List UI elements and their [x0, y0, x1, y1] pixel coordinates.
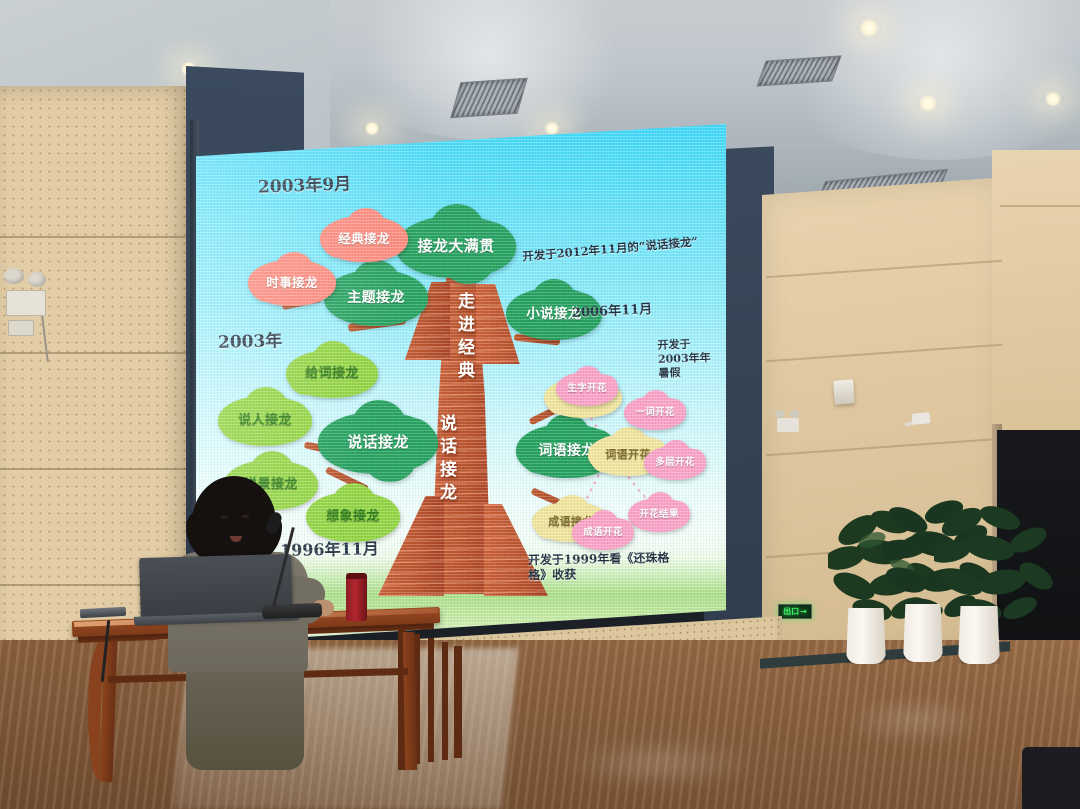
plant-pot — [903, 604, 943, 662]
desk-leg — [403, 632, 417, 770]
red-thermos[interactable] — [346, 577, 367, 621]
wall-speaker — [833, 379, 855, 404]
node-zhuti-jielong[interactable]: 主题接龙 — [324, 270, 428, 326]
floor-reflection — [840, 700, 990, 740]
presenter-eye — [221, 516, 228, 519]
node-shishi-jielong[interactable]: 时事接龙 — [248, 260, 336, 306]
node-yici-kaihua[interactable]: 一词开花 — [624, 396, 686, 430]
panel-seam — [0, 468, 190, 470]
annotation-2003-summer: 开发于 2003年年 暑假 — [657, 337, 711, 380]
trunk-text-line-2: 说话接龙 — [434, 414, 459, 506]
node-label: 经典接龙 — [338, 232, 390, 245]
panel-seam — [0, 352, 190, 354]
node-duoceng-kaihua[interactable]: 多层开花 — [644, 446, 706, 480]
node-label: 生字开花 — [567, 384, 607, 394]
node-geici-jielong[interactable]: 给词接龙 — [286, 350, 378, 398]
emergency-light — [777, 418, 799, 432]
downlight — [916, 96, 940, 111]
presenter-eye — [242, 515, 249, 518]
security-camera — [912, 412, 931, 425]
presentation-room-photo: 出口 → — [0, 0, 1080, 809]
node-shengzi-kaihua[interactable]: 生字开花 — [556, 372, 618, 406]
downlight — [362, 122, 382, 135]
annotation-2003-9: 2003年9月 — [258, 174, 352, 198]
node-label: 主题接龙 — [347, 291, 405, 306]
node-label: 说人接龙 — [238, 414, 292, 428]
emergency-lamp-icon — [790, 410, 799, 418]
ceiling-vent-icon — [450, 78, 528, 119]
node-label: 说话接龙 — [347, 435, 409, 451]
node-jingdian-jielong[interactable]: 经典接龙 — [320, 216, 408, 262]
node-label: 给词接龙 — [305, 367, 359, 381]
node-label: 接龙大满贯 — [417, 239, 494, 255]
panel-seam — [0, 236, 190, 238]
exit-sign-label: 出口 — [783, 608, 799, 616]
emergency-lamp-icon — [28, 272, 46, 287]
annotation-2003: 2003年 — [218, 331, 283, 354]
node-shuoren-jielong[interactable]: 说人接龙 — [218, 396, 312, 446]
node-label: 时事接龙 — [266, 276, 318, 289]
exit-sign: 出口 → — [778, 604, 812, 619]
node-kaihua-jieguo[interactable]: 开花结果 — [628, 498, 690, 532]
node-label: 成语开花 — [583, 528, 623, 538]
annotation-1999-huanzhu: 开发于1999年看《还珠格 格》收获 — [528, 551, 670, 583]
power-outlet[interactable] — [6, 290, 46, 316]
downlight — [542, 122, 562, 135]
wood-seam — [1000, 205, 1080, 207]
downlight — [1042, 92, 1064, 106]
node-label: 多层开花 — [655, 458, 695, 468]
plant-pot — [958, 606, 1000, 664]
node-label: 一词开花 — [635, 408, 675, 418]
microphone-base — [262, 603, 322, 619]
thermos-cap — [346, 573, 367, 579]
downlight — [856, 20, 882, 36]
emergency-lamp-icon — [775, 410, 784, 418]
floor-reflection — [560, 740, 760, 786]
presenter-skirt — [186, 660, 304, 770]
trunk-text-line-1: 走进经典 — [452, 292, 477, 384]
plant-pot — [846, 608, 886, 664]
node-label: 开花结果 — [639, 510, 679, 520]
foreground-object — [1022, 747, 1080, 809]
node-label: 想象接龙 — [326, 510, 380, 524]
node-jielong-daman-guan[interactable]: 接龙大满贯 — [396, 216, 516, 278]
emergency-lamp-icon — [4, 268, 24, 284]
node-chengyu-kaihua[interactable]: 成语开花 — [572, 516, 634, 550]
node-xiangxiang-jielong[interactable]: 想象接龙 — [306, 492, 400, 542]
power-outlet[interactable] — [8, 320, 34, 336]
exit-arrow-icon: → — [800, 608, 807, 616]
node-shuohua-jielong[interactable]: 说话接龙 — [318, 412, 438, 474]
